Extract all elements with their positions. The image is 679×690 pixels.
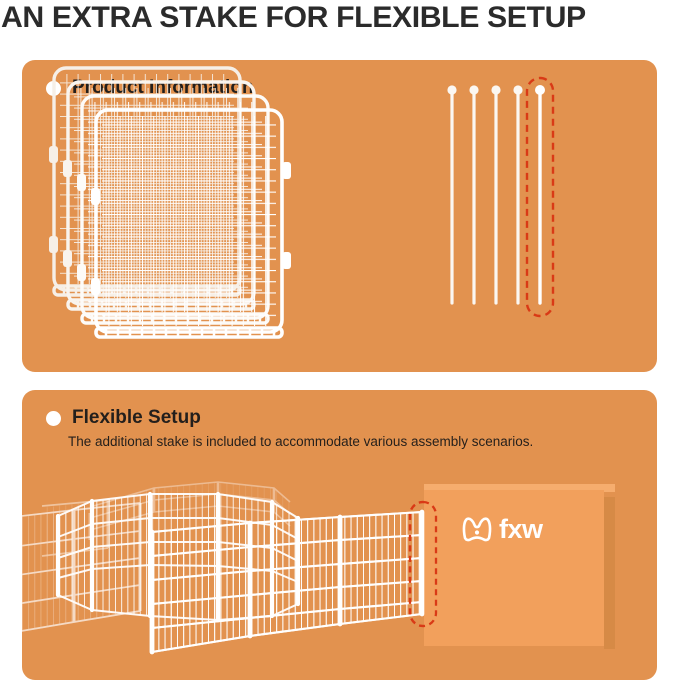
- stake-4: [513, 85, 522, 303]
- wall-pen-panel-1: [152, 523, 250, 652]
- playpen-panel-4: [218, 494, 272, 620]
- bullet-dot-icon: [46, 411, 61, 426]
- mesh-panel-back-2: [63, 82, 254, 309]
- stake-1: [447, 85, 456, 303]
- animal-head-logo-icon: [462, 516, 492, 542]
- product-information-illustration: [22, 60, 657, 372]
- mesh-panel-back-1: [49, 68, 240, 295]
- stake-3: [491, 85, 500, 303]
- section-heading-label: Product Information: [72, 77, 254, 99]
- wall-pen-panel-3: [340, 512, 422, 624]
- playpen-panel-3: [150, 494, 218, 620]
- octagonal-playpen: [58, 482, 298, 620]
- flexible-setup-heading: Flexible Setup: [46, 407, 201, 429]
- playpen-panel-2: [92, 494, 150, 616]
- stake-2: [469, 85, 478, 303]
- bullet-dot-icon: [46, 81, 61, 96]
- playpen-panel-1: [58, 501, 92, 610]
- page-title: AN EXTRA STAKE FOR FLEXIBLE SETUP: [1, 1, 679, 35]
- playpen-panel-5: [272, 502, 298, 616]
- section-subtitle: The additional stake is included to acco…: [68, 433, 533, 450]
- mesh-panel-back-3: [77, 96, 268, 323]
- product-information-heading: Product Information: [46, 77, 254, 99]
- brand-name-label: fxw: [499, 514, 543, 544]
- wall-side-edge: [604, 497, 615, 649]
- stake-5-highlighted: [535, 85, 545, 303]
- stake-highlight-outline: [527, 78, 553, 316]
- wall-attached-playpen: [22, 502, 436, 652]
- mesh-panel-front: [91, 110, 291, 337]
- brand-logo: fxw: [462, 512, 572, 546]
- section-heading-label: Flexible Setup: [72, 407, 201, 429]
- wall-pen-panel-2: [250, 517, 340, 636]
- section-product-information: Product Information: [22, 60, 657, 372]
